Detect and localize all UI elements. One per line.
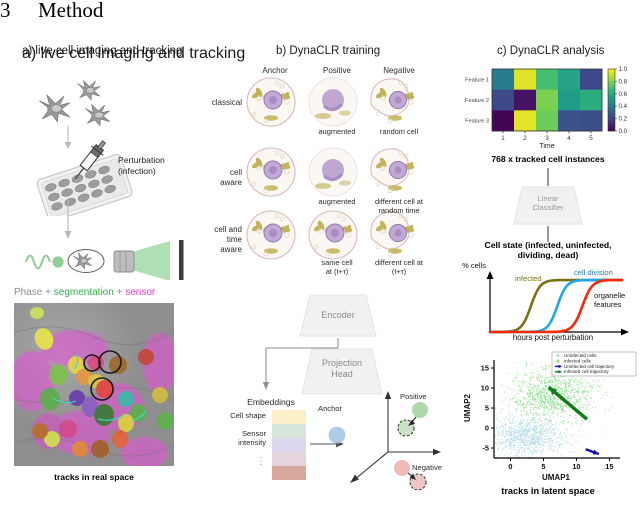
umap-point (530, 385, 531, 386)
umap-point (495, 455, 496, 456)
umap-point (522, 433, 523, 434)
umap-point (547, 442, 548, 443)
caption-row1-negative: random cell (366, 128, 432, 137)
umap-point (569, 435, 570, 436)
umap-point (524, 426, 525, 427)
umap-point (530, 426, 531, 427)
umap-point (559, 434, 560, 435)
umap-point (507, 426, 508, 427)
umap-point (535, 415, 536, 416)
umap-point (568, 391, 569, 392)
umap-point (512, 435, 513, 436)
umap-point (576, 401, 577, 402)
umap-point (523, 423, 524, 424)
umap-point (547, 366, 548, 367)
umap-point (500, 443, 501, 444)
umap-point (540, 442, 541, 443)
heatmap-cell (492, 69, 514, 90)
umap-point (530, 433, 531, 434)
umap-point (605, 392, 606, 393)
umap-point (540, 420, 541, 421)
umap-point (541, 422, 542, 423)
colorbar-tick: 0.2 (619, 116, 628, 123)
umap-point (544, 395, 545, 396)
umap-point (540, 375, 541, 376)
umap-point (536, 438, 537, 439)
umap-point (531, 377, 532, 378)
umap-point (520, 405, 521, 406)
umap-point (545, 382, 546, 383)
umap-point (587, 386, 588, 387)
umap-point (547, 414, 548, 415)
umap-point (541, 429, 542, 430)
umap-point (562, 380, 563, 381)
umap-point (521, 391, 522, 392)
umap-point (537, 385, 538, 386)
umap-point (531, 387, 532, 388)
umap-point (525, 430, 526, 431)
umap-point (545, 364, 546, 365)
umap-point (521, 414, 522, 415)
umap-point (549, 410, 550, 411)
umap-point (576, 399, 577, 400)
umap-point (522, 405, 523, 406)
overlay-segmentation-label: segmentation (54, 287, 114, 298)
umap-point (543, 445, 544, 446)
umap-point (571, 444, 572, 445)
umap-point (526, 373, 527, 374)
umap-point (532, 454, 533, 455)
umap-point (539, 385, 540, 386)
umap-point (547, 428, 548, 429)
umap-point (551, 438, 552, 439)
umap-point (540, 431, 541, 432)
umap-point (565, 435, 566, 436)
row-label-cell-aware-l2: aware (198, 178, 242, 188)
umap-point (507, 439, 508, 440)
heatmap-cell (580, 69, 602, 90)
umap-point (530, 380, 531, 381)
umap-point (531, 372, 532, 373)
umap-point (542, 367, 543, 368)
umap-point (513, 417, 514, 418)
umap-point (545, 386, 546, 387)
umap-point (508, 430, 509, 431)
umap-point (526, 430, 527, 431)
umap-point (551, 431, 552, 432)
syringe-icon (60, 140, 116, 190)
umap-point (560, 432, 561, 433)
umap-point (503, 429, 504, 430)
umap-point (537, 434, 538, 435)
umap-point (519, 435, 520, 436)
umap-point (555, 434, 556, 435)
umap-point (511, 445, 512, 446)
umap-point (509, 415, 510, 416)
umap-point (577, 395, 578, 396)
umap-point (531, 404, 532, 405)
umap-point (544, 445, 545, 446)
umap-point (496, 419, 497, 420)
umap-point (551, 449, 552, 450)
umap-point (569, 380, 570, 381)
umap-point (514, 443, 515, 444)
umap-point (552, 382, 553, 383)
umap-point (520, 447, 521, 448)
umap-point (527, 449, 528, 450)
umap-point (538, 388, 539, 389)
overlay-plus-2: + (117, 287, 123, 298)
encoder-label: Encoder (296, 310, 380, 320)
umap-point (536, 450, 537, 451)
umap-point (529, 389, 530, 390)
umap-point (534, 437, 535, 438)
umap-point (527, 436, 528, 437)
umap-point (556, 401, 557, 402)
umap-point (567, 422, 568, 423)
umap-point (543, 442, 544, 443)
heatmap-to-classifier-connector (545, 168, 551, 186)
row-label-cell-time-aware: cell and time aware (190, 225, 242, 255)
umap-point (520, 402, 521, 403)
umap-xtick: 5 (541, 462, 545, 471)
umap-point (550, 397, 551, 398)
heatmap-cell (580, 90, 602, 111)
umap-point (530, 382, 531, 383)
umap-point (533, 409, 534, 410)
umap-point (570, 380, 571, 381)
umap-point (531, 407, 532, 408)
umap-point (535, 413, 536, 414)
umap-point (546, 432, 547, 433)
heatmap-cell (536, 90, 558, 111)
umap-point (550, 446, 551, 447)
umap-point (537, 425, 538, 426)
umap-point (515, 436, 516, 437)
embedding-stack (272, 410, 306, 480)
umap-point (501, 425, 502, 426)
umap-point (587, 401, 588, 402)
umap-point (552, 430, 553, 431)
umap-point (554, 402, 555, 403)
umap-point (514, 416, 515, 417)
embedding-label-ellipsis: ⋮ (214, 456, 266, 468)
umap-point (502, 401, 503, 402)
umap-point (524, 448, 525, 449)
umap-legend-label: Uninfected cells (564, 353, 597, 358)
umap-point (560, 406, 561, 407)
umap-point (549, 447, 550, 448)
umap-point (551, 422, 552, 423)
umap-point (577, 400, 578, 401)
umap-point (562, 393, 563, 394)
umap-point (575, 418, 576, 419)
umap-point (510, 399, 511, 400)
umap-point (569, 398, 570, 399)
umap-point (550, 400, 551, 401)
umap-point (537, 379, 538, 380)
umap-point (522, 380, 523, 381)
umap-point (521, 449, 522, 450)
umap-point (509, 422, 510, 423)
umap-point (611, 406, 612, 407)
umap-point (552, 380, 553, 381)
umap-point (540, 433, 541, 434)
umap-point (525, 440, 526, 441)
umap-point (575, 403, 576, 404)
umap-point (545, 437, 546, 438)
colorbar-tick: 0.0 (619, 128, 628, 135)
umap-point (521, 436, 522, 437)
umap-point (542, 394, 543, 395)
umap-point (582, 382, 583, 383)
umap-point (542, 381, 543, 382)
umap-point (516, 401, 517, 402)
umap-point (561, 454, 562, 455)
umap-point (536, 452, 537, 453)
umap-point (515, 445, 516, 446)
umap-point (541, 453, 542, 454)
umap-point (504, 419, 505, 420)
sigmoid-ylabel: % cells (462, 261, 486, 270)
umap-point (508, 440, 509, 441)
section-title: Method (38, 0, 103, 22)
umap-point (531, 396, 532, 397)
umap-point (529, 401, 530, 402)
umap-point (538, 376, 539, 377)
umap-point (539, 402, 540, 403)
umap-point (552, 395, 553, 396)
umap-point (560, 383, 561, 384)
umap-point (502, 431, 503, 432)
umap-point (527, 403, 528, 404)
umap-point (575, 381, 576, 382)
umap-point (507, 373, 508, 374)
umap-point (590, 385, 591, 386)
umap-point (523, 403, 524, 404)
umap-point (547, 422, 548, 423)
umap-point (522, 397, 523, 398)
umap-point (530, 409, 531, 410)
umap-point (514, 445, 515, 446)
umap-point (581, 419, 582, 420)
umap-point (506, 417, 507, 418)
umap-point (554, 385, 555, 386)
umap-point (522, 434, 523, 435)
umap-point (538, 395, 539, 396)
umap-point (550, 379, 551, 380)
umap-point (577, 380, 578, 381)
umap-point (520, 437, 521, 438)
umap-point (557, 390, 558, 391)
umap-point (555, 442, 556, 443)
umap-point (582, 386, 583, 387)
umap-point (527, 448, 528, 449)
umap-point (535, 426, 536, 427)
umap-point (523, 444, 524, 445)
umap-point (563, 382, 564, 383)
umap-point (516, 442, 517, 443)
umap-point (572, 378, 573, 379)
umap-point (496, 429, 497, 430)
umap-point (532, 417, 533, 418)
umap-point (555, 380, 556, 381)
umap-point (549, 380, 550, 381)
umap-point (521, 428, 522, 429)
umap-point (551, 406, 552, 407)
umap-point (534, 369, 535, 370)
umap-point (534, 443, 535, 444)
umap-point (558, 380, 559, 381)
umap-point (549, 366, 550, 367)
umap-point (534, 398, 535, 399)
umap-point (513, 390, 514, 391)
umap-point (528, 400, 529, 401)
umap-point (520, 429, 521, 430)
umap-point (533, 372, 534, 373)
umap-point (537, 386, 538, 387)
umap-point (574, 397, 575, 398)
umap-point (534, 446, 535, 447)
umap-point (494, 437, 495, 438)
umap-point (542, 440, 543, 441)
umap-point (569, 452, 570, 453)
umap-point (514, 436, 515, 437)
umap-point (584, 391, 585, 392)
umap-point (585, 379, 586, 380)
umap-point (524, 382, 525, 383)
umap-point (517, 404, 518, 405)
umap-point (530, 396, 531, 397)
umap-point (543, 388, 544, 389)
umap-point (502, 423, 503, 424)
caption-row3-positive-l2: at (t+τ) (306, 268, 368, 277)
umap-point (515, 434, 516, 435)
umap-point (553, 439, 554, 440)
colorbar-tick: 0.8 (619, 78, 628, 85)
umap-point (575, 421, 576, 422)
umap-point (551, 404, 552, 405)
umap-point (517, 439, 518, 440)
umap-point (542, 404, 543, 405)
umap-point (516, 373, 517, 374)
umap-point (595, 381, 596, 382)
umap-point (505, 428, 506, 429)
umap-point (517, 393, 518, 394)
row-label-cell-aware: cell aware (198, 168, 242, 188)
umap-point (524, 375, 525, 376)
umap-point (518, 432, 519, 433)
umap-point (525, 433, 526, 434)
umap-point (555, 387, 556, 388)
umap-point (544, 430, 545, 431)
umap-point (521, 404, 522, 405)
row-label-cta-l3: aware (190, 245, 242, 255)
umap-point (502, 450, 503, 451)
umap-point (541, 366, 542, 367)
umap-point (513, 422, 514, 423)
umap-point (544, 397, 545, 398)
cell-illustration-grid (240, 76, 438, 266)
umap-point (569, 397, 570, 398)
umap-point (508, 441, 509, 442)
umap-point (563, 432, 564, 433)
umap-point (512, 420, 513, 421)
umap-point (514, 447, 515, 448)
umap-point (564, 429, 565, 430)
umap-point (543, 425, 544, 426)
umap-point (525, 435, 526, 436)
umap-point (603, 394, 604, 395)
umap-point (528, 389, 529, 390)
umap-point (539, 426, 540, 427)
umap-point (516, 452, 517, 453)
umap-point (520, 400, 521, 401)
umap-point (553, 398, 554, 399)
umap-point (548, 438, 549, 439)
umap-point (518, 439, 519, 440)
umap-point (542, 386, 543, 387)
umap-point (527, 411, 528, 412)
umap-point (565, 382, 566, 383)
umap-point (540, 436, 541, 437)
umap-point (578, 384, 579, 385)
umap-point (580, 381, 581, 382)
umap-point (527, 433, 528, 434)
umap-point (530, 428, 531, 429)
umap-point (513, 433, 514, 434)
umap-point (500, 441, 501, 442)
umap-point (551, 409, 552, 410)
umap-point (554, 377, 555, 378)
umap-point (548, 424, 549, 425)
umap-point (561, 455, 562, 456)
umap-point (539, 439, 540, 440)
umap-point (587, 390, 588, 391)
umap-point (511, 432, 512, 433)
umap-point (547, 433, 548, 434)
umap-point (527, 444, 528, 445)
umap-point (535, 444, 536, 445)
umap-point (496, 427, 497, 428)
umap-point (509, 434, 510, 435)
umap-point (505, 444, 506, 445)
umap-point (561, 384, 562, 385)
umap-point (546, 388, 547, 389)
umap-point (551, 381, 552, 382)
umap-point (524, 391, 525, 392)
umap-point (539, 415, 540, 416)
umap-point (526, 425, 527, 426)
umap-point (521, 439, 522, 440)
umap-point (575, 415, 576, 416)
umap-point (516, 455, 517, 456)
umap-point (542, 406, 543, 407)
umap-point (578, 388, 579, 389)
heatmap-cell (492, 90, 514, 111)
umap-point (536, 398, 537, 399)
umap-point (496, 417, 497, 418)
umap-point (546, 435, 547, 436)
umap-point (538, 429, 539, 430)
umap-point (538, 397, 539, 398)
umap-point (538, 444, 539, 445)
umap-point (545, 390, 546, 391)
umap-point (549, 428, 550, 429)
umap-point (549, 421, 550, 422)
umap-point (510, 428, 511, 429)
umap-point (578, 391, 579, 392)
